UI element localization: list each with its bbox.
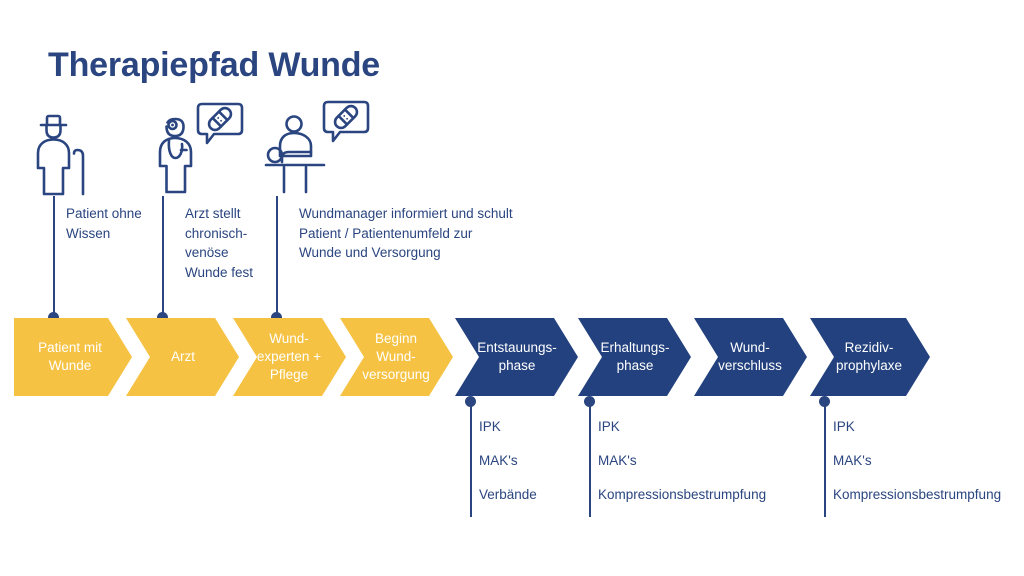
bottom-item-ipk-2: IPK — [589, 418, 620, 436]
bottom-item-kompression-2: Kompressionsbestrumpfung — [589, 486, 766, 504]
bottom-item-ipk-3: IPK — [824, 418, 855, 436]
chevron-shape-7 — [694, 318, 807, 396]
chevron-shape-4 — [340, 318, 453, 396]
bottom-item-maks-2: MAK's — [589, 452, 637, 470]
doctor-with-speech-bubble-icon — [158, 100, 250, 203]
top-step-doctor — [158, 100, 278, 198]
top-step-patient — [33, 112, 153, 198]
chevron-shape-3 — [233, 318, 346, 396]
chevron-shape-5 — [455, 318, 578, 396]
diagram-canvas: Therapiepfad Wunde — [0, 0, 1024, 576]
bottom-item-maks-3: MAK's — [824, 452, 872, 470]
top-step-label-patient: Patient ohne Wissen — [57, 204, 184, 243]
bottom-item-verbaende-1: Verbände — [470, 486, 537, 504]
elderly-patient-with-cane-icon — [33, 112, 103, 203]
process-chevron-band — [0, 318, 1024, 396]
chevron-shape-6 — [578, 318, 691, 396]
bottom-item-kompression-3: Kompressionsbestrumpfung — [824, 486, 1001, 504]
top-step-label-wound-manager: Wundmanager informiert und schult Patien… — [290, 204, 589, 263]
chevron-shape-1 — [14, 318, 132, 396]
bottom-item-ipk-1: IPK — [470, 418, 501, 436]
top-step-wound-manager — [264, 100, 394, 198]
connector-line-patient — [53, 196, 55, 320]
chevron-shape-8 — [810, 318, 930, 396]
wound-manager-treating-patient-icon — [264, 100, 374, 203]
page-title: Therapiepfad Wunde — [48, 48, 380, 82]
top-step-label-doctor: Arzt stellt chronisch- venöse Wunde fest — [176, 204, 285, 282]
bottom-item-maks-1: MAK's — [470, 452, 518, 470]
chevron-shape-2 — [126, 318, 239, 396]
